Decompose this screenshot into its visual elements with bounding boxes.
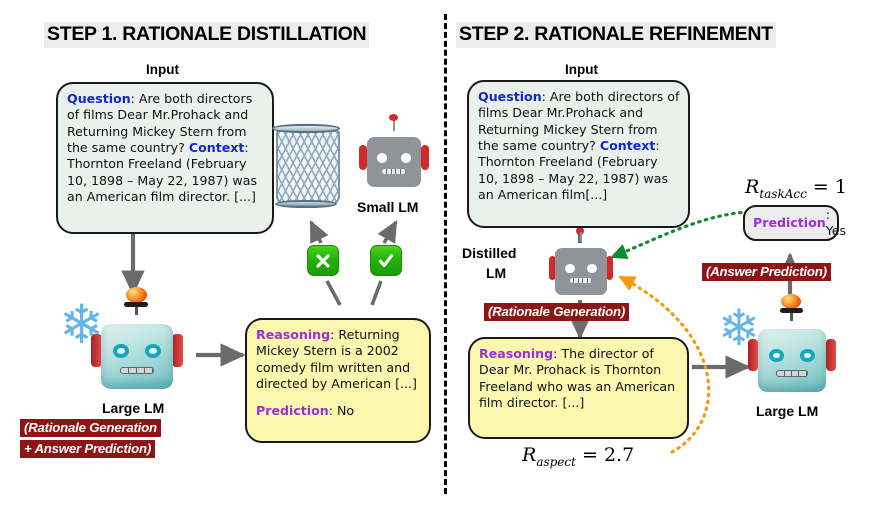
eye-left [113,344,129,358]
robot-head [367,137,422,187]
mouth [382,169,406,174]
reward-value: = 2.7 [576,444,634,466]
eye-right [800,349,815,363]
wastebasket-icon [272,122,340,206]
antenna-base [124,302,149,307]
reward-symbol: R [745,176,759,198]
large-lm-robot-icon-right [753,318,831,398]
antenna [580,232,582,243]
mouth [570,278,592,283]
large-lm-label-right: Large LM [756,403,818,419]
context-key: Context [189,140,245,155]
answer-prediction-label: (Answer Prediction) [702,263,831,281]
step-2-prediction-box: Prediction: Yes [743,205,839,241]
prediction-text: : Yes [826,207,846,240]
antenna-bulb [781,294,801,309]
step-2-rationale-box: Reasoning: The director of Dear Mr. Proh… [468,337,689,439]
snowflake-icon-right: ❄ [718,303,760,353]
small-lm-robot-icon [363,128,425,192]
reward-subscript: taskAcc [759,187,807,201]
mouth [120,367,153,374]
step-2-title: STEP 2. RATIONALE REFINEMENT [456,22,776,48]
question-key: Question [67,91,131,106]
ear-right [421,145,429,171]
eye-right [401,153,411,162]
reward-subscript: aspect [536,455,576,469]
step-1-panel: STEP 1. RATIONALE DISTILLATION Input Que… [0,0,440,508]
large-lm-role-line-1: (Rationale Generation [20,419,161,437]
reward-task-acc-label: RtaskAcc = 1 [745,176,847,201]
bin-foot [275,200,338,208]
distilled-lm-label-line-2: LM [486,265,506,281]
ear-right [606,256,614,280]
large-lm-role-line-2: + Answer Prediction) [20,440,155,458]
robot-head [101,324,173,390]
mouth [776,370,808,377]
snowflake-icon: ❄ [59,298,104,352]
step-2-input-box: Question: Are both directors of films De… [467,80,690,228]
step-2-panel: STEP 2. RATIONALE REFINEMENT Input Quest… [440,0,870,508]
step-1-input-label: Input [146,62,179,77]
rationale-generation-label: (Rationale Generation) [484,303,629,321]
distilled-lm-robot-icon [552,240,610,300]
ear-right [172,334,183,368]
question-key: Question [478,89,542,104]
context-key: Context [600,138,656,153]
step-2-input-label: Input [565,62,598,77]
large-lm-robot-icon [96,312,178,396]
prediction-text: : No [329,403,354,418]
reward-aspect-label: Raspect = 2.7 [522,444,634,469]
cross-mark-icon [307,245,339,276]
step-1-title: STEP 1. RATIONALE DISTILLATION [44,22,369,48]
reasoning-key: Reasoning [479,346,553,361]
eye-left [565,264,575,273]
reward-value: = 1 [807,176,847,198]
bin-body [276,130,340,205]
prediction-key: Prediction [753,215,826,231]
antenna-bulb [126,287,147,303]
reward-symbol: R [522,444,536,466]
robot-head [555,248,606,295]
eye-right [145,344,161,358]
reasoning-key: Reasoning [256,327,330,342]
eye-left [769,349,784,363]
bin-rim [272,124,340,133]
robot-head [758,329,827,391]
step-1-output-box: Reasoning: Returning Mickey Stern is a 2… [245,318,431,443]
ear-right [826,339,836,371]
large-lm-label: Large LM [102,400,164,416]
step-1-input-box: Question: Are both directors of films De… [56,82,274,234]
small-lm-label: Small LM [357,199,418,215]
distilled-lm-label-line-1: Distilled [462,245,516,261]
check-mark-icon [370,245,402,276]
prediction-key: Prediction [256,403,329,418]
antenna-bulb [389,114,398,121]
antenna-base [780,308,803,313]
eye-right [587,264,597,273]
eye-left [377,153,387,162]
